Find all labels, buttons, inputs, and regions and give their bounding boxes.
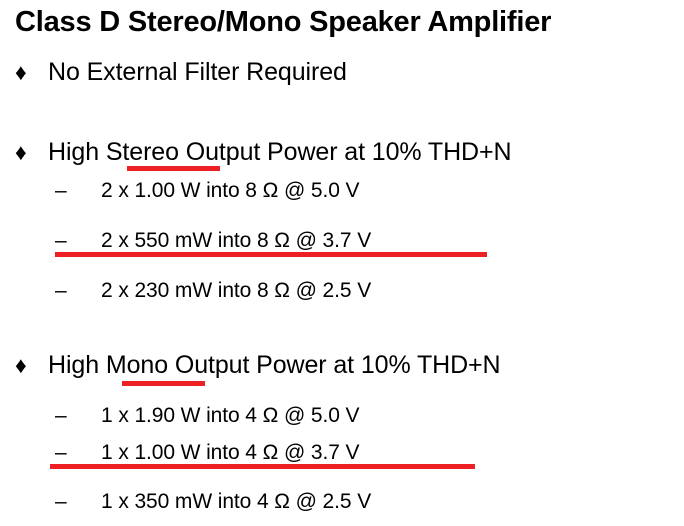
sub-item-label: 2 x 1.00 W into 8 Ω @ 5.0 V [101,176,359,206]
page-title: Class D Stereo/Mono Speaker Amplifier [15,5,551,39]
highlight-underline-stereo-3p7v [55,252,487,257]
dash-bullet-icon: – [55,487,67,517]
sub-item-label: 2 x 230 mW into 8 Ω @ 2.5 V [101,276,371,306]
bullet-label: High Stereo Output Power at 10% THD+N [48,135,511,169]
diamond-bullet-icon: ♦ [15,348,27,382]
dash-bullet-icon: – [55,401,67,431]
highlight-underline-stereo [127,166,220,171]
dash-bullet-icon: – [55,276,67,306]
bullet-label: No External Filter Required [48,55,347,89]
slide-canvas: Class D Stereo/Mono Speaker Amplifier ♦ … [0,0,684,526]
diamond-bullet-icon: ♦ [15,55,27,89]
sub-item-label: 1 x 350 mW into 4 Ω @ 2.5 V [101,487,371,517]
highlight-underline-mono [122,381,205,386]
dash-bullet-icon: – [55,176,67,206]
bullet-label: High Mono Output Power at 10% THD+N [48,348,501,382]
sub-item-label: 1 x 1.90 W into 4 Ω @ 5.0 V [101,401,359,431]
highlight-underline-mono-3p7v [50,464,475,469]
diamond-bullet-icon: ♦ [15,135,27,169]
